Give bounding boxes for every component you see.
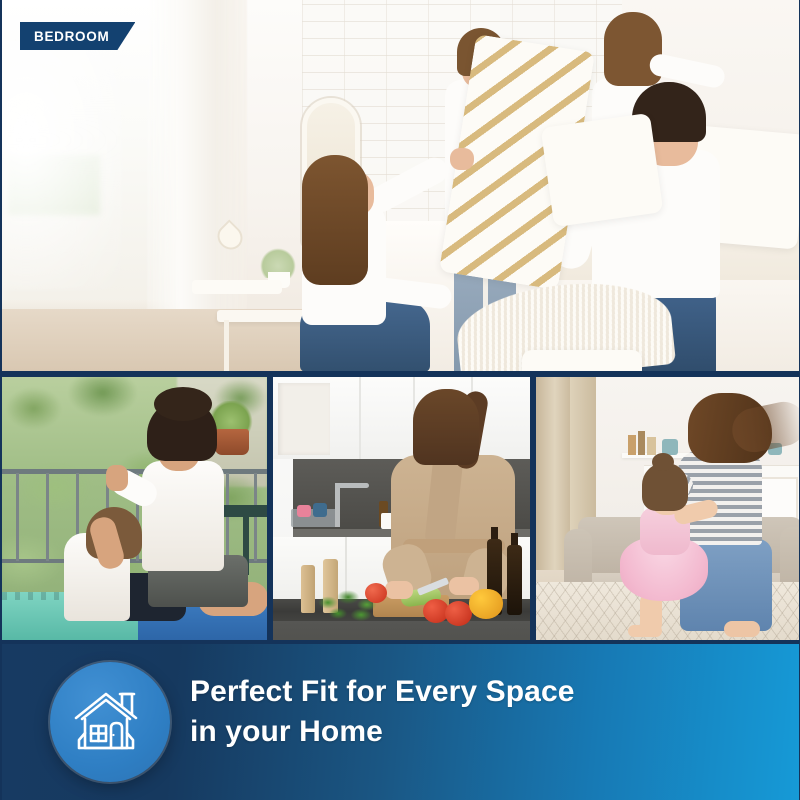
house-icon — [50, 662, 170, 782]
kitchen-tomato — [365, 583, 387, 603]
bedroom-scene-image — [2, 0, 800, 371]
kitchen-faucet-neck — [335, 483, 340, 527]
livingroom-mother-foot — [724, 621, 760, 637]
balcony-railing-bar — [16, 473, 19, 561]
kitchen-woman-hair — [413, 389, 479, 465]
kitchen-bell-pepper — [469, 589, 503, 619]
balcony-man-hair — [154, 387, 212, 421]
kitchen-blue-cup — [313, 503, 327, 517]
balcony-railing-bar — [254, 473, 257, 561]
kitchen-island-reflection — [273, 621, 530, 640]
balcony-scene-image — [2, 377, 267, 640]
kitchen-cabinet-seam — [359, 377, 361, 459]
bedroom-girl-hair — [604, 12, 662, 86]
bedroom-pillow — [522, 350, 642, 371]
livingroom-scene-image — [536, 377, 800, 640]
kitchen-open-cabinet — [278, 383, 330, 455]
kitchen-woman-left-hand — [385, 581, 413, 599]
bedroom-stool — [192, 280, 282, 294]
livingroom-mother-striped-top — [678, 451, 762, 545]
kitchen-faucet-head — [335, 483, 369, 488]
balcony-railing-bar — [226, 473, 229, 561]
panel-livingroom: LIVING ROOM — [536, 377, 800, 640]
room-label-text: BEDROOM — [34, 29, 109, 44]
kitchen-pink-cup — [297, 505, 311, 517]
bedroom-mom-hand — [450, 148, 474, 170]
kitchen-oil-bottle — [507, 545, 522, 615]
livingroom-book — [638, 431, 645, 455]
promo-graphic: BEDROOM — [0, 0, 800, 800]
balcony-railing-bar — [46, 473, 49, 561]
panel-kitchen: KITCHEN — [273, 377, 530, 640]
banner-headline-line2: in your Home — [190, 712, 770, 752]
livingroom-book — [647, 437, 656, 455]
panel-bedroom: BEDROOM — [2, 0, 800, 371]
balcony-man-torso — [142, 461, 224, 571]
bedroom-mom-hair — [302, 155, 368, 285]
balcony-man-hand — [106, 465, 128, 491]
livingroom-book — [628, 435, 636, 455]
panel-balcony: BALCONY — [2, 377, 267, 640]
banner-headline: Perfect Fit for Every Space in your Home — [190, 672, 770, 751]
bedroom-curtain — [147, 0, 247, 350]
bedroom-pillow — [541, 113, 664, 227]
kitchen-scene-image — [273, 377, 530, 640]
banner-headline-line1: Perfect Fit for Every Space — [190, 675, 575, 708]
livingroom-girl-hair-bun — [652, 453, 674, 471]
livingroom-girl-foot — [628, 625, 662, 637]
kitchen-tomato — [445, 601, 472, 626]
bedroom-window-glow — [2, 40, 122, 290]
room-label-bedroom: BEDROOM — [20, 22, 135, 50]
balcony-flower-pot — [215, 429, 249, 455]
kitchen-pepper-grinder — [301, 565, 315, 613]
bedroom-table-leg — [224, 320, 229, 371]
